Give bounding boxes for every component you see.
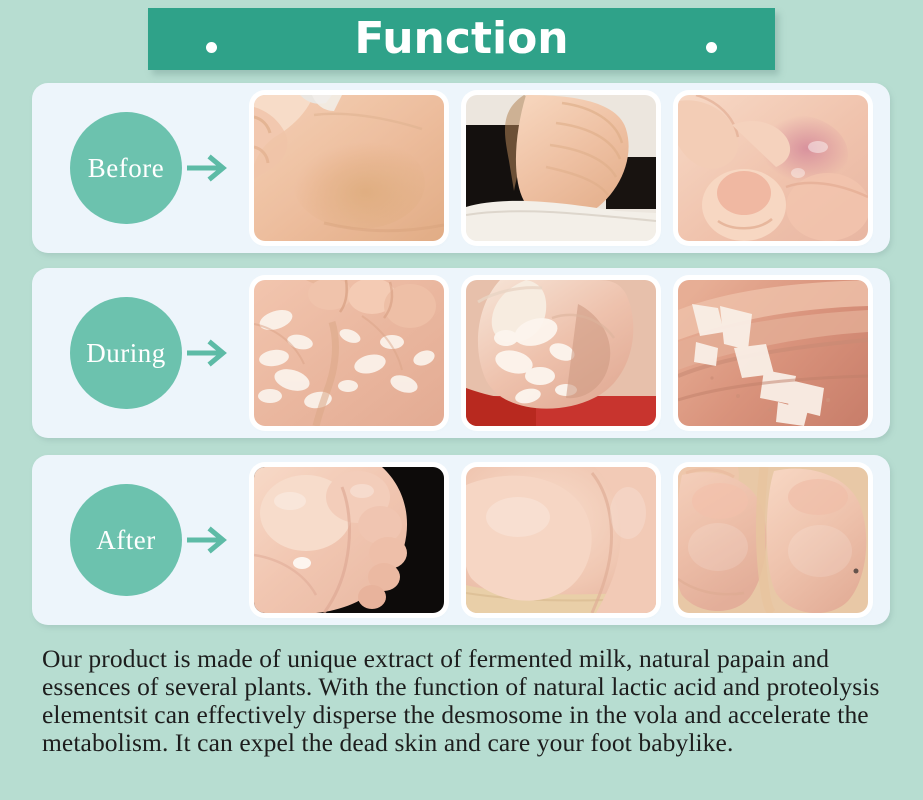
- photo-during-2: [466, 280, 656, 426]
- stage-label-during: During: [70, 297, 182, 409]
- photo-during-1: [254, 280, 444, 426]
- photo-after-3: [678, 467, 868, 613]
- photo-after-2: [466, 467, 656, 613]
- photo-strip-before: [240, 83, 890, 253]
- header-banner: Function: [148, 8, 775, 70]
- banner-dot-left-icon: [206, 42, 217, 53]
- banner-dot-right-icon: [706, 42, 717, 53]
- photo-strip-after: [240, 455, 890, 625]
- photo-during-3: [678, 280, 868, 426]
- row-panel-after: After: [32, 455, 890, 625]
- arrow-right-icon: [187, 151, 233, 185]
- photo-strip-during: [240, 268, 890, 438]
- photo-before-3: [678, 95, 868, 241]
- stage-label-before: Before: [70, 112, 182, 224]
- arrow-right-icon: [187, 523, 233, 557]
- stage-label-text: After: [96, 527, 155, 554]
- photo-before-1: [254, 95, 444, 241]
- row-panel-during: During: [32, 268, 890, 438]
- product-description: Our product is made of unique extract of…: [42, 645, 892, 757]
- stage-label-after: After: [70, 484, 182, 596]
- photo-after-1: [254, 467, 444, 613]
- row-panel-before: Before: [32, 83, 890, 253]
- stage-label-text: During: [86, 340, 166, 367]
- arrow-right-icon: [187, 336, 233, 370]
- stage-label-text: Before: [88, 155, 164, 182]
- page-title: Function: [354, 17, 568, 61]
- photo-before-2: [466, 95, 656, 241]
